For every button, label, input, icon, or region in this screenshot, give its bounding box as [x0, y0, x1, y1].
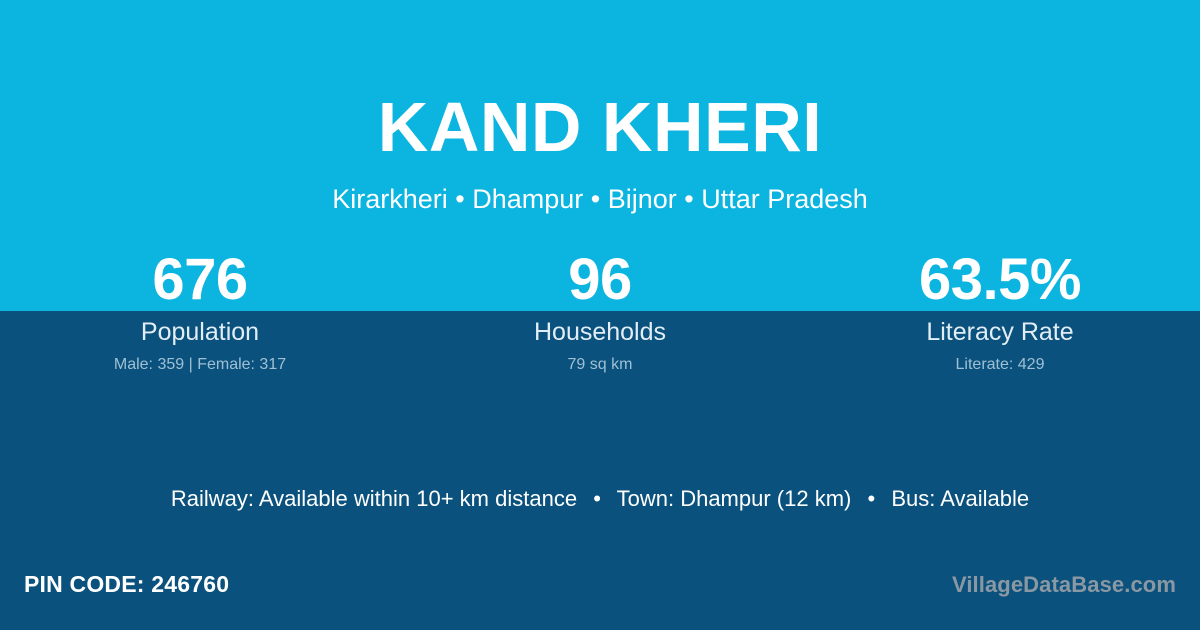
stat-label: Population [0, 317, 400, 347]
footer: PIN CODE: 246760 VillageDataBase.com [0, 552, 1200, 630]
site-brand: VillageDataBase.com [952, 571, 1176, 598]
stats-row: 676 Population Male: 359 | Female: 317 9… [0, 248, 1200, 375]
location-breadcrumb: Kirarkheri • Dhampur • Bijnor • Uttar Pr… [0, 183, 1200, 216]
stat-value: 63.5% [800, 248, 1200, 312]
page-title: KAND KHERI [0, 86, 1200, 168]
stat-sublabel: Male: 359 | Female: 317 [0, 355, 400, 375]
amenity-bus: Bus: Available [891, 486, 1029, 511]
stat-label: Households [400, 317, 800, 347]
stat-households: 96 Households 79 sq km [400, 248, 800, 375]
bullet-separator-icon: • [583, 485, 611, 513]
village-info-card: KAND KHERI Kirarkheri • Dhampur • Bijnor… [0, 0, 1200, 630]
stat-sublabel: 79 sq km [400, 355, 800, 375]
pin-code: PIN CODE: 246760 [24, 570, 229, 598]
stat-value: 96 [400, 248, 800, 312]
stat-label: Literacy Rate [800, 317, 1200, 347]
bullet-separator-icon: • [857, 485, 885, 513]
stat-value: 676 [0, 248, 400, 312]
stat-population: 676 Population Male: 359 | Female: 317 [0, 248, 400, 375]
stat-literacy-rate: 63.5% Literacy Rate Literate: 429 [800, 248, 1200, 375]
amenity-railway: Railway: Available within 10+ km distanc… [171, 486, 577, 511]
amenity-town: Town: Dhampur (12 km) [617, 486, 852, 511]
stat-sublabel: Literate: 429 [800, 355, 1200, 375]
amenities-line: Railway: Available within 10+ km distanc… [0, 485, 1200, 513]
